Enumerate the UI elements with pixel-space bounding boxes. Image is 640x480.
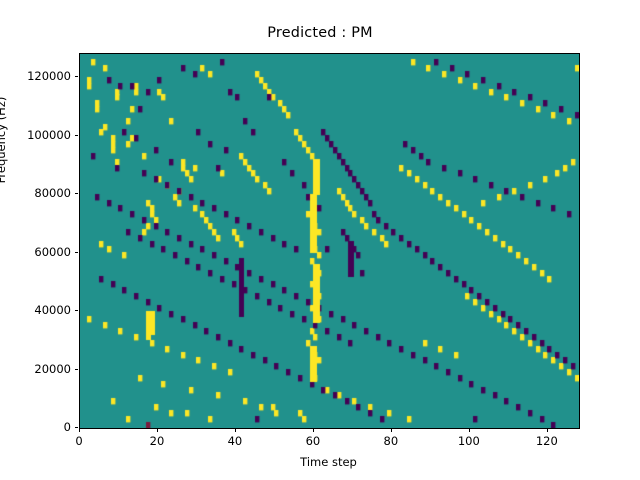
y-tick-mark bbox=[75, 193, 79, 194]
x-tick-label: 100 bbox=[458, 434, 480, 448]
y-tick-mark bbox=[75, 369, 79, 370]
x-tick-mark bbox=[391, 428, 392, 432]
y-tick-mark bbox=[75, 76, 79, 77]
x-tick-mark bbox=[79, 428, 80, 432]
y-tick-label: 40000 bbox=[0, 303, 71, 317]
y-tick-label: 100000 bbox=[0, 128, 71, 142]
y-tick-mark bbox=[75, 135, 79, 136]
x-tick-mark bbox=[235, 428, 236, 432]
heatmap-cells-canvas bbox=[80, 54, 579, 428]
x-tick-label: 20 bbox=[150, 434, 165, 448]
y-tick-label: 60000 bbox=[0, 245, 71, 259]
x-tick-label: 40 bbox=[228, 434, 243, 448]
x-tick-mark bbox=[547, 428, 548, 432]
y-axis-label: Frequency (Hz) bbox=[0, 40, 8, 240]
x-tick-mark bbox=[469, 428, 470, 432]
y-tick-label: 120000 bbox=[0, 69, 71, 83]
x-tick-label: 60 bbox=[306, 434, 321, 448]
y-tick-label: 20000 bbox=[0, 362, 71, 376]
matplotlib-figure: Predicted : PM 0200004000060000800001000… bbox=[0, 0, 640, 480]
x-axis-label: Time step bbox=[79, 455, 578, 469]
x-tick-label: 0 bbox=[75, 434, 82, 448]
x-tick-mark bbox=[157, 428, 158, 432]
y-tick-label: 80000 bbox=[0, 186, 71, 200]
y-tick-mark bbox=[75, 252, 79, 253]
heatmap-plot-area bbox=[79, 53, 580, 429]
x-tick-label: 80 bbox=[384, 434, 399, 448]
y-tick-mark bbox=[75, 427, 79, 428]
y-tick-mark bbox=[75, 310, 79, 311]
x-tick-mark bbox=[313, 428, 314, 432]
y-tick-label: 0 bbox=[0, 420, 71, 434]
x-tick-label: 120 bbox=[536, 434, 558, 448]
page-title: Predicted : PM bbox=[0, 25, 640, 41]
